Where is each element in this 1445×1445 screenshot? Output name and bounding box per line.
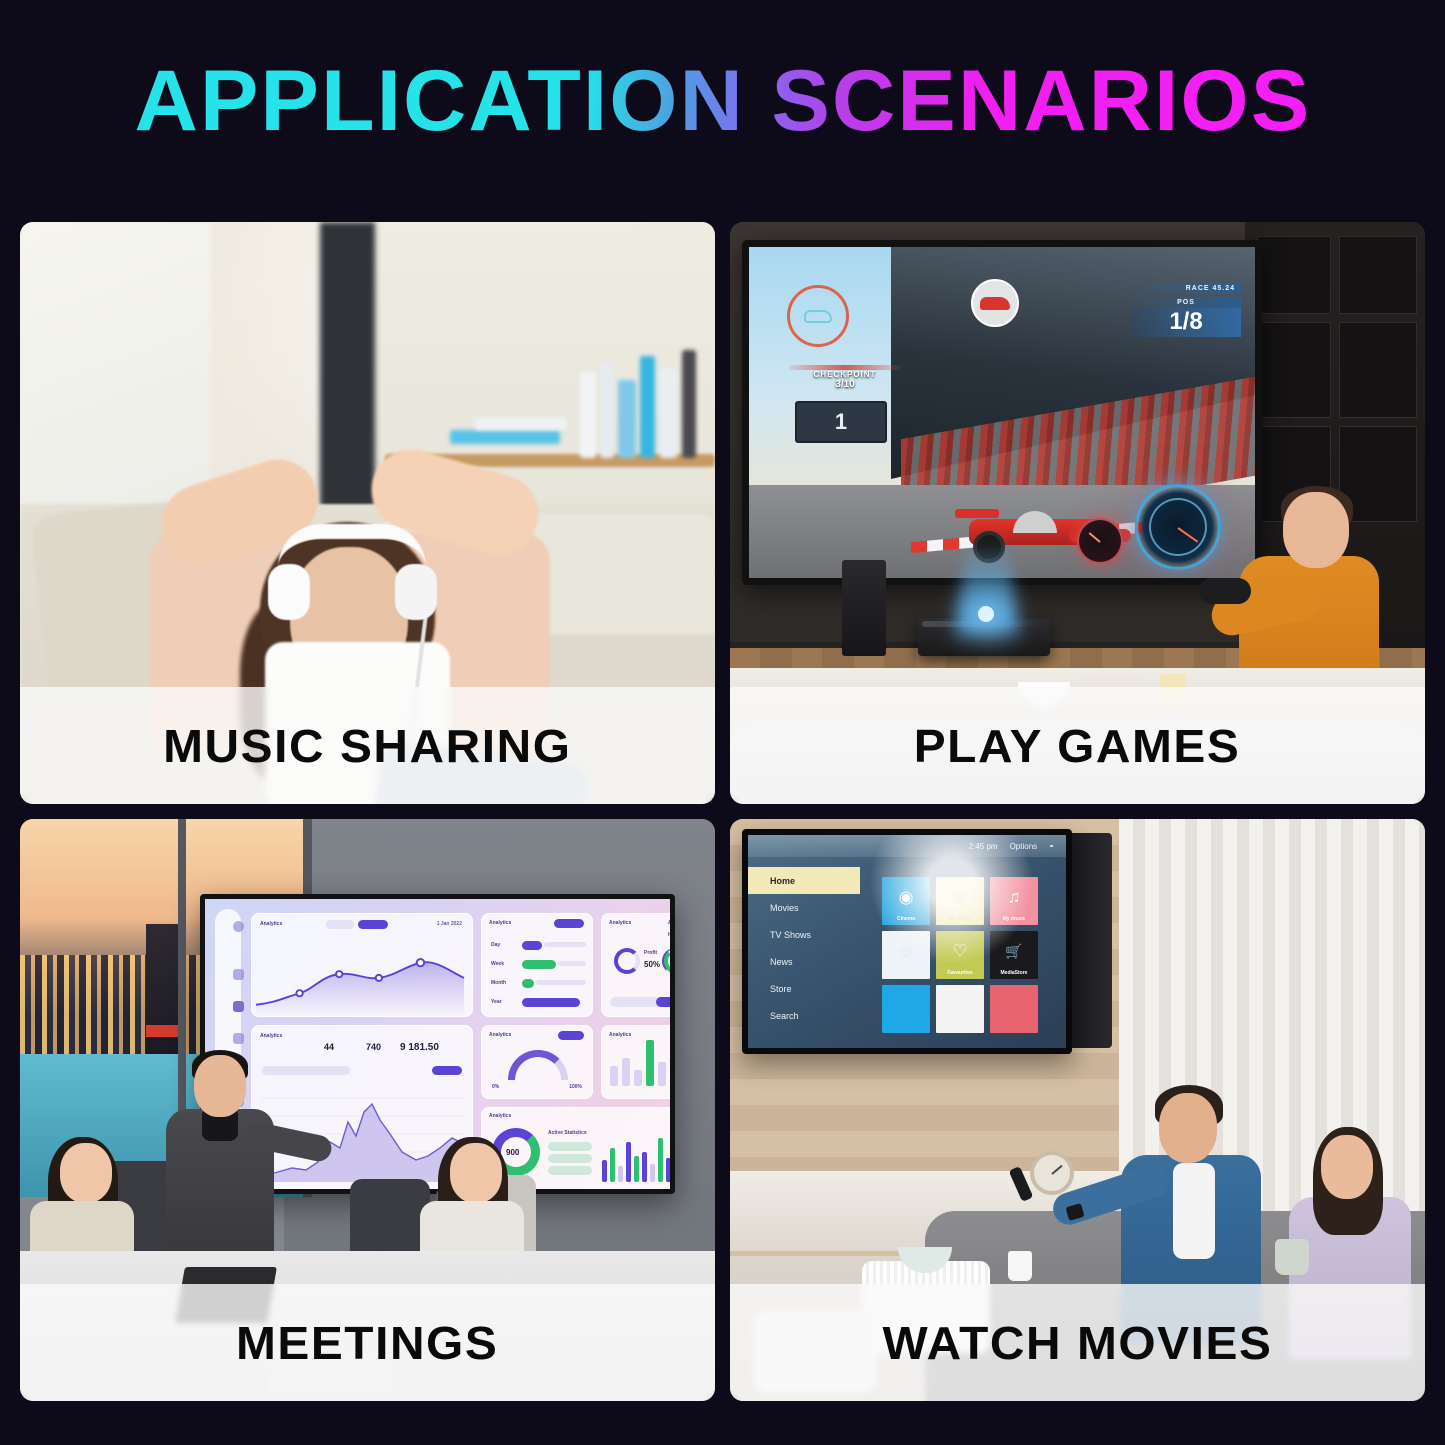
- statistics-row[interactable]: [548, 1154, 592, 1163]
- statistics-row[interactable]: [548, 1166, 592, 1175]
- shelf-compartment: [1339, 236, 1417, 314]
- date-label[interactable]: 1 Jan 2022: [437, 921, 462, 927]
- filter-slider-day[interactable]: [522, 941, 542, 950]
- all-profit-card: Analytics All Profit Hidden accounts Pro…: [601, 913, 675, 1017]
- caption-label: MUSIC SHARING: [163, 719, 571, 773]
- white-tshirt: [1173, 1163, 1215, 1259]
- profit-caption: Profit: [644, 950, 657, 956]
- menu-item-home[interactable]: Home: [748, 867, 860, 894]
- screen-glare: [856, 829, 1047, 973]
- book-item: [682, 350, 696, 458]
- wifi-icon: ◓: [1049, 842, 1054, 851]
- all-profit-label: All Profit: [668, 920, 675, 926]
- scenario-card-play-games[interactable]: RACE 45.24 POS 1/8 CHECKPOINT 3/10 1: [730, 222, 1425, 804]
- card-title: Analytics: [260, 1033, 282, 1039]
- filter-row-label: Month: [491, 980, 506, 986]
- book-item: [640, 356, 655, 458]
- scenario-card-watch-movies[interactable]: 2:45 pm Options ◓ Home Movies TV Shows N…: [730, 819, 1425, 1401]
- hidden-accounts-label: Hidden accounts: [668, 932, 675, 938]
- filter-slider-week[interactable]: [522, 960, 556, 969]
- speedometer-dial: [1149, 498, 1207, 556]
- active-statistics-label: Active Statistics: [548, 1130, 587, 1136]
- book-item: [450, 430, 560, 444]
- caption-play-games: PLAY GAMES: [730, 687, 1425, 804]
- shelf-compartment: [1257, 236, 1331, 314]
- tile-extra-3[interactable]: [990, 985, 1038, 1033]
- book-item: [580, 372, 596, 458]
- face: [194, 1055, 246, 1117]
- face: [1159, 1093, 1217, 1163]
- table-clock: [1030, 1151, 1074, 1195]
- month-toggle[interactable]: [358, 920, 388, 929]
- application-scenarios-page: APPLICATION SCENARIOS: [0, 0, 1445, 1445]
- bar: [634, 1156, 639, 1182]
- mug: [1275, 1239, 1309, 1275]
- bar: [666, 1158, 671, 1182]
- add-filter-button[interactable]: [554, 919, 584, 928]
- mini-bar-plot: [602, 1130, 675, 1182]
- filter-row-label: Year: [491, 999, 502, 1005]
- bar: [626, 1142, 631, 1182]
- card-title: Analytics: [489, 1113, 511, 1119]
- book-item: [618, 380, 636, 458]
- caption-label: MEETINGS: [236, 1316, 498, 1370]
- stat-value-3: 9 181.50: [400, 1042, 439, 1053]
- caption-meetings: MEETINGS: [20, 1284, 715, 1401]
- bar: [610, 1148, 615, 1182]
- tile-extra-2[interactable]: [936, 985, 984, 1033]
- menu-item-tv-shows[interactable]: TV Shows: [748, 921, 860, 948]
- caption-label: WATCH MOVIES: [883, 1316, 1273, 1370]
- bar-chart-plot: [610, 1038, 675, 1086]
- week-toggle[interactable]: [326, 920, 354, 929]
- face: [1283, 492, 1349, 568]
- menu-item-search[interactable]: Search: [748, 1002, 860, 1029]
- menu-item-news[interactable]: News: [748, 948, 860, 975]
- bar: [618, 1166, 623, 1182]
- car-silhouette-icon: [804, 310, 832, 323]
- gauge-max-label: 100%: [569, 1084, 582, 1090]
- card-title: Analytics: [260, 921, 282, 927]
- gauge-min-label: 0%: [492, 1084, 499, 1090]
- projection-screen: RACE 45.24 POS 1/8 CHECKPOINT 3/10 1: [742, 240, 1262, 585]
- projector-lens-glow: [978, 606, 994, 622]
- home-icon[interactable]: [233, 969, 244, 980]
- face: [1321, 1135, 1373, 1199]
- checkpoint-value: 3/10: [789, 379, 901, 390]
- rear-wing: [955, 509, 999, 518]
- headphone-earcup-right: [395, 564, 437, 620]
- filter-track-month[interactable]: [536, 980, 586, 985]
- stat-value-1: 44: [324, 1042, 334, 1052]
- filter-card: Analytics Day Week Month Year: [481, 913, 593, 1017]
- badge-car-icon: [980, 297, 1010, 310]
- book-item: [660, 368, 677, 458]
- card-title: Analytics: [489, 1032, 511, 1038]
- scenario-card-music-sharing[interactable]: MUSIC SHARING: [20, 222, 715, 804]
- card-title: Analytics: [609, 920, 631, 926]
- game-controller[interactable]: [1199, 578, 1251, 604]
- filter-slider-year[interactable]: [522, 998, 580, 1007]
- profit-value-1: 50%: [644, 960, 660, 969]
- statistics-row[interactable]: [548, 1142, 592, 1151]
- caption-label: PLAY GAMES: [914, 719, 1241, 773]
- table-mug: [1008, 1251, 1032, 1281]
- reports-icon[interactable]: [233, 1001, 244, 1012]
- hud-right-panel: RACE 45.24 POS 1/8: [1131, 283, 1241, 337]
- messages-icon[interactable]: [233, 1033, 244, 1044]
- speedometer-needle: [1177, 527, 1198, 542]
- bar: [650, 1164, 655, 1182]
- page-title: APPLICATION SCENARIOS: [134, 56, 1311, 146]
- bar: [646, 1040, 654, 1086]
- scenario-card-meetings[interactable]: Analytics 1 Jan 2022: [20, 819, 715, 1401]
- gauge-card: Analytics 0% 100%: [481, 1025, 593, 1099]
- tv-side-menu[interactable]: Home Movies TV Shows News Store Search: [748, 867, 860, 1029]
- bar: [670, 1072, 675, 1086]
- secondary-gauge: [1077, 518, 1123, 564]
- filter-slider-month[interactable]: [522, 979, 534, 988]
- day-tab-selected[interactable]: [656, 997, 675, 1007]
- television[interactable]: 2:45 pm Options ◓ Home Movies TV Shows N…: [742, 829, 1072, 1054]
- page-title-wrap: APPLICATION SCENARIOS: [0, 56, 1445, 146]
- caption-watch-movies: WATCH MOVIES: [730, 1284, 1425, 1401]
- filter-track-day[interactable]: [544, 942, 586, 947]
- race-time-readout: RACE 45.24: [1131, 283, 1241, 294]
- menu-item-movies[interactable]: Movies: [748, 894, 860, 921]
- filter-track-week[interactable]: [558, 961, 586, 966]
- line-chart-card: Analytics 1 Jan 2022: [251, 913, 473, 1017]
- cockpit-halo: [1013, 511, 1057, 533]
- position-label: POS: [1131, 297, 1241, 308]
- line-chart-svg: [252, 955, 472, 1016]
- card-title: Analytics: [489, 920, 511, 926]
- avatar-icon[interactable]: [233, 921, 244, 932]
- shelf-compartment: [1257, 322, 1331, 418]
- secondary-gauge-needle: [1089, 532, 1101, 543]
- bar: [602, 1160, 607, 1182]
- bar: [610, 1066, 618, 1086]
- headphones-headband: [278, 524, 426, 568]
- apply-button[interactable]: [432, 1066, 462, 1075]
- bar-chart-card: Analytics: [601, 1025, 675, 1099]
- stat-value-2: 740: [366, 1042, 381, 1052]
- filter-row-label: Day: [491, 942, 500, 948]
- shelf-compartment: [1339, 322, 1417, 418]
- speaker-tower: [842, 560, 886, 656]
- book-item: [475, 418, 567, 430]
- caption-music-sharing: MUSIC SHARING: [20, 687, 715, 804]
- filter-row-label: Week: [491, 961, 504, 967]
- game-logo-badge: [971, 279, 1019, 327]
- bar: [622, 1058, 630, 1086]
- profit-donut-1: [614, 948, 640, 974]
- board-number: 1: [835, 411, 847, 433]
- bar: [658, 1138, 663, 1182]
- menu-item-store[interactable]: Store: [748, 975, 860, 1002]
- gauge-action-button[interactable]: [558, 1031, 584, 1040]
- position-value: 1/8: [1131, 308, 1241, 337]
- bar: [642, 1152, 647, 1182]
- tile-extra-1[interactable]: [882, 985, 930, 1033]
- trackside-board: 1: [795, 401, 887, 443]
- checkpoint-label: CHECKPOINT: [789, 370, 901, 379]
- checkpoint-hud: CHECKPOINT 3/10: [789, 365, 901, 390]
- face: [450, 1143, 502, 1203]
- face: [60, 1143, 112, 1203]
- headphone-earcup-left: [268, 564, 310, 620]
- gauge-arc-fill: [508, 1050, 568, 1080]
- book-item: [600, 362, 614, 458]
- bar: [674, 1146, 675, 1182]
- hud-car-ring-icon: [787, 285, 849, 347]
- bar: [658, 1062, 666, 1086]
- bar: [634, 1070, 642, 1086]
- scenario-grid: MUSIC SHARING: [20, 222, 1425, 1425]
